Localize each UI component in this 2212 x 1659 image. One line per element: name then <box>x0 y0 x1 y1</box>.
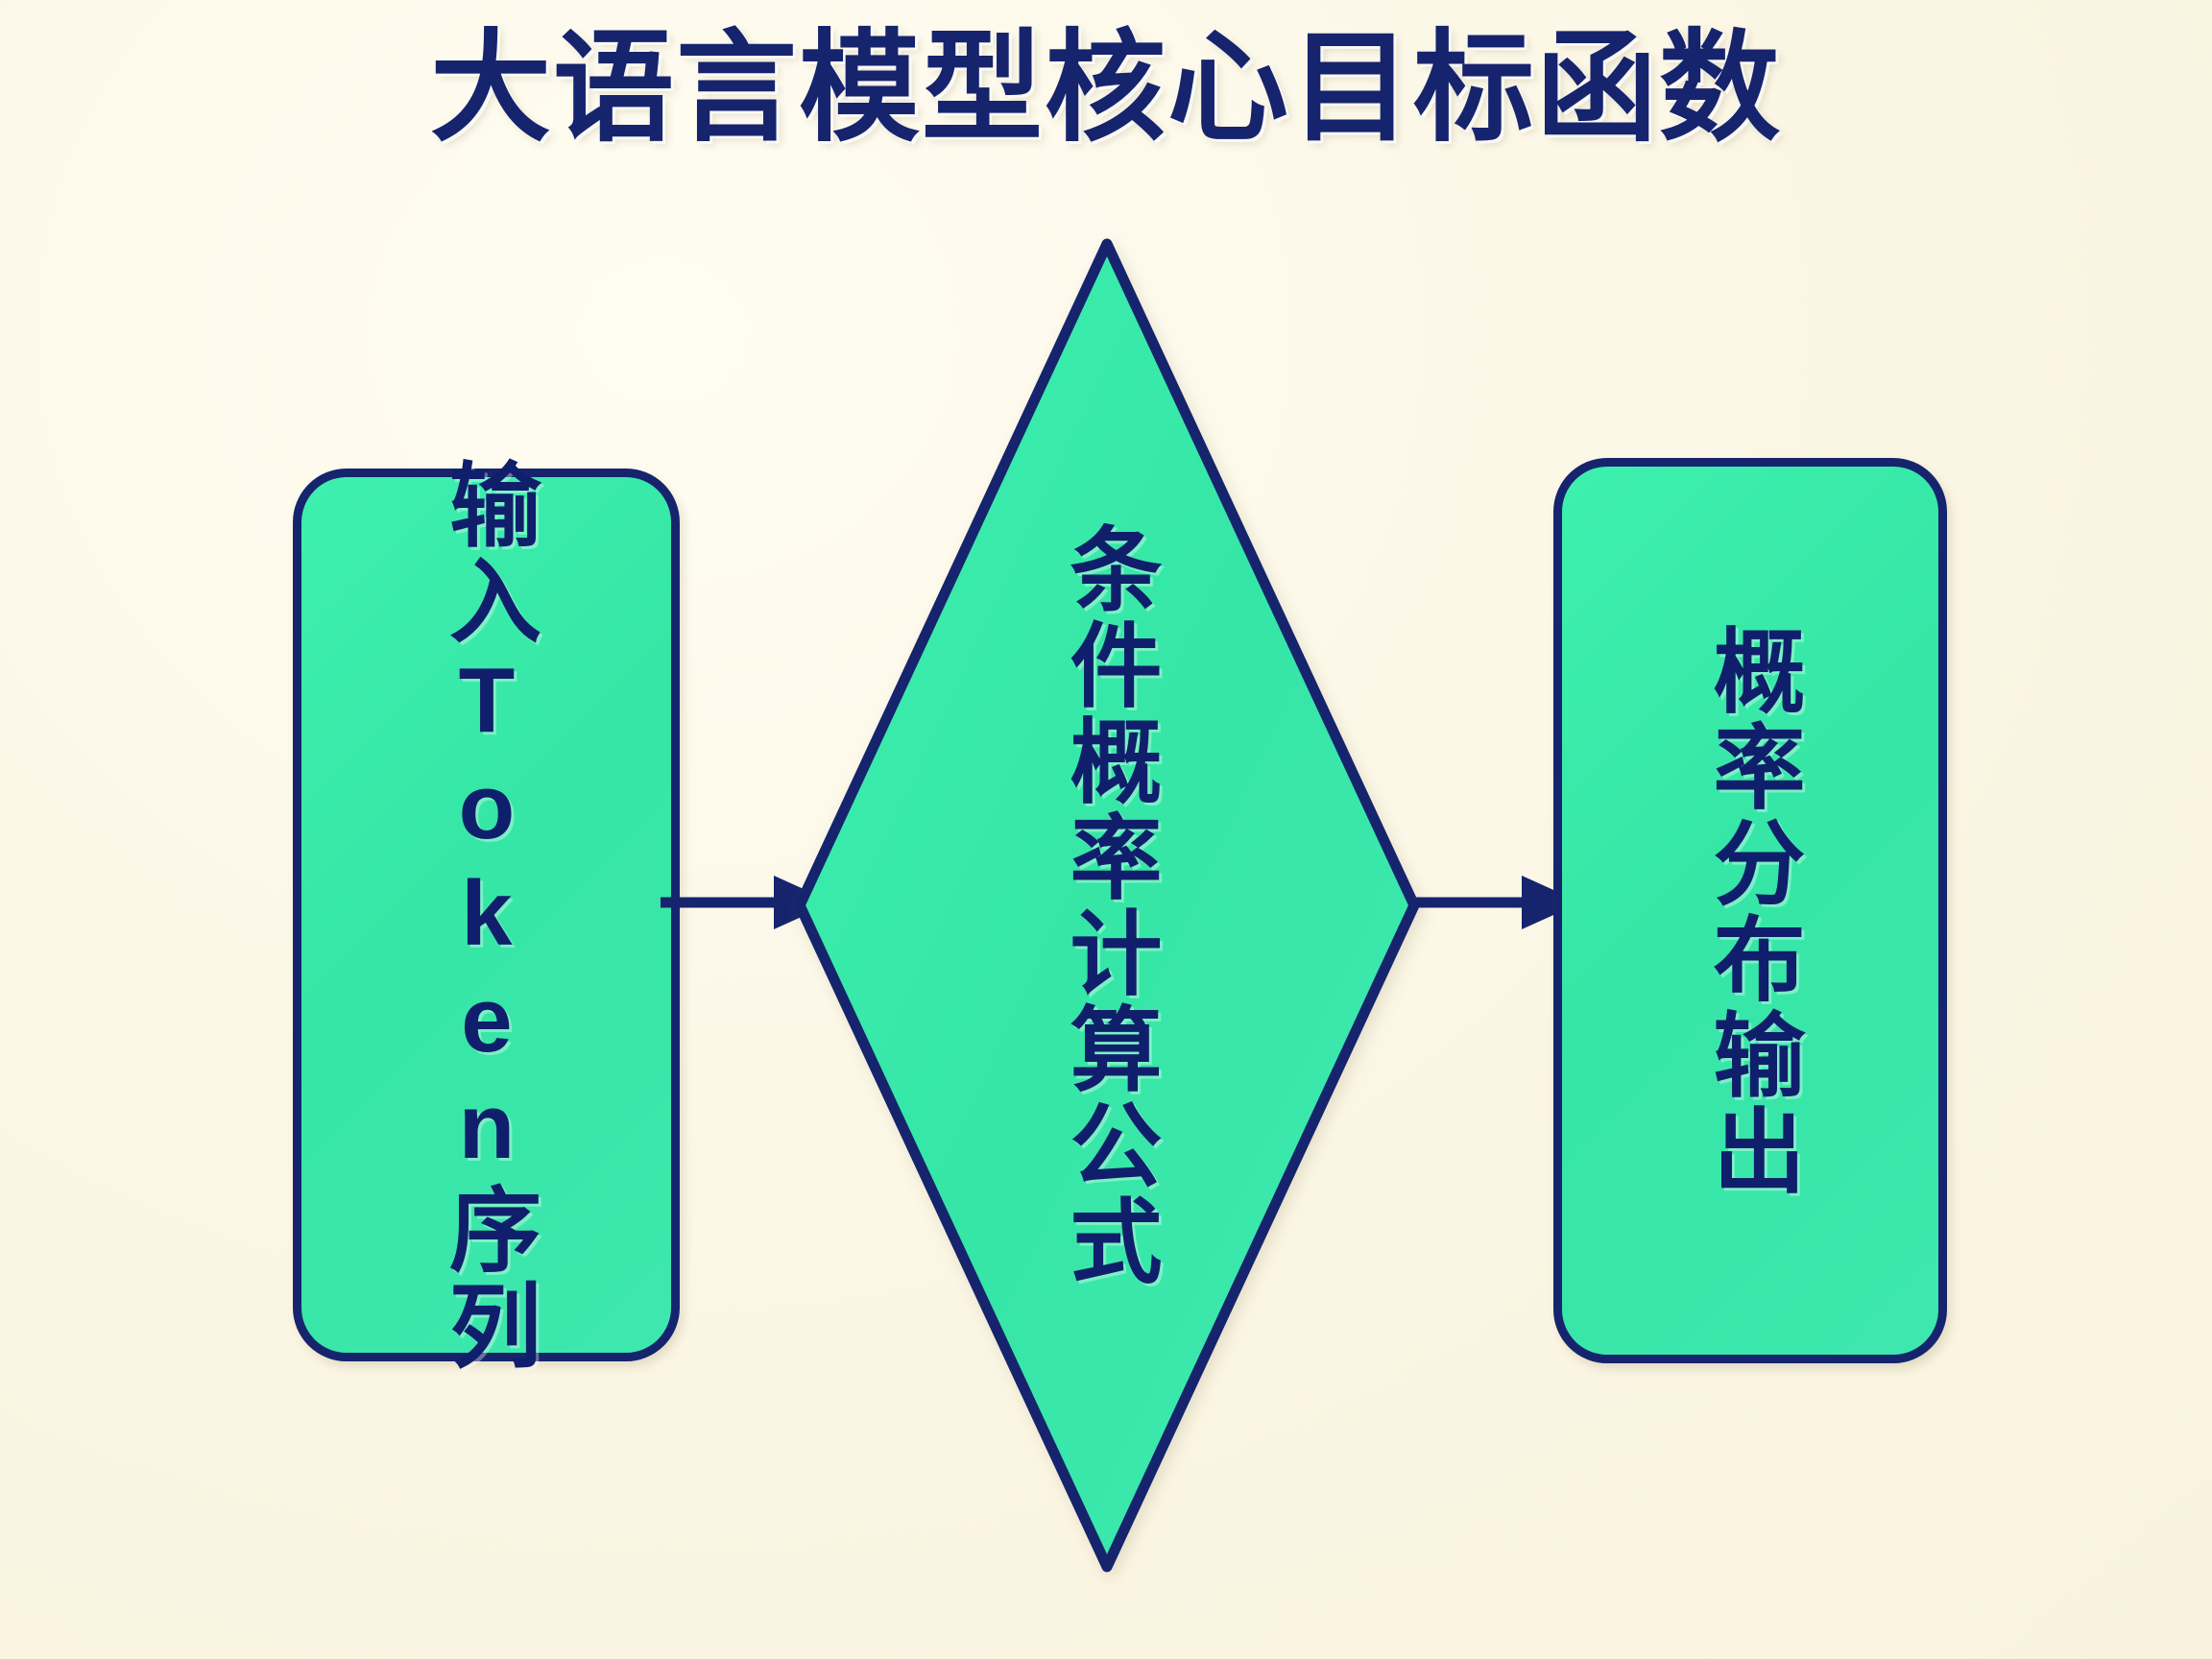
page-title: 大语言模型核心目标函数 <box>0 25 2212 152</box>
flow-node-output[interactable]: 概率分布输出 <box>1553 458 1947 1363</box>
flow-node-input-label: 输入Token序列 <box>441 457 533 1374</box>
diagram-canvas: 大语言模型核心目标函数 输入Token序列 条件概率计算公式 <box>0 0 2212 1659</box>
flow-node-process-label-wrap: 条件概率计算公式 <box>794 238 1420 1573</box>
flow-node-process[interactable]: 条件概率计算公式 <box>794 238 1420 1573</box>
flow-node-input[interactable]: 输入Token序列 <box>293 469 680 1361</box>
flow-node-process-label: 条件概率计算公式 <box>1061 521 1153 1289</box>
flow-node-output-label: 概率分布输出 <box>1704 623 1796 1199</box>
